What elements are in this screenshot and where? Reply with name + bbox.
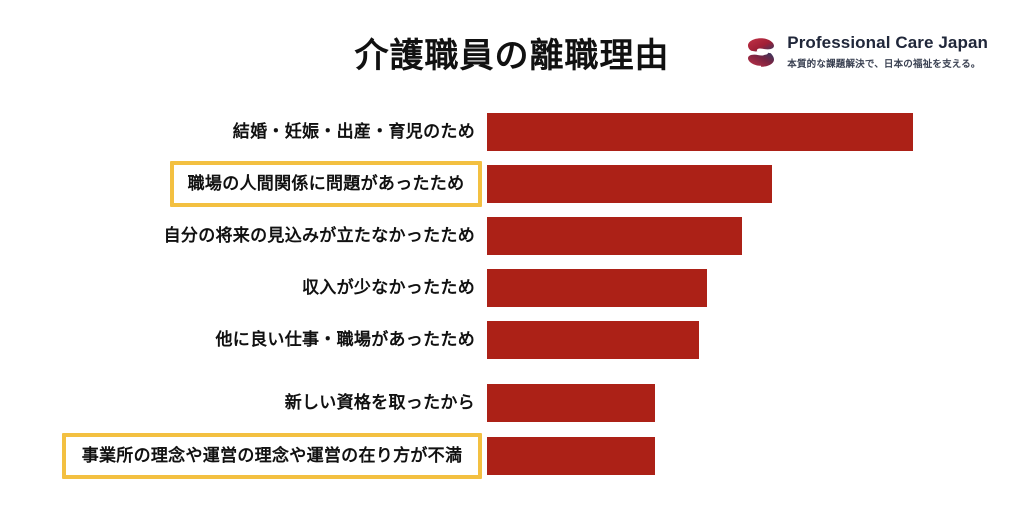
brand-name: Professional Care Japan — [787, 33, 988, 53]
chart-header: 介護職員の離職理由 — [0, 0, 1024, 96]
chart-row: 新しい資格を取ったから — [0, 384, 1024, 422]
bar — [487, 384, 655, 422]
category-label: 収入が少なかったため — [302, 269, 475, 307]
chart-row: 事業所の理念や運営の理念や運営の在り方が不満 — [0, 437, 1024, 475]
brand-logo: Professional Care Japan 本質的な課題解決で、日本の福祉を… — [744, 33, 988, 70]
category-label: 事業所の理念や運営の理念や運営の在り方が不満 — [66, 437, 478, 475]
category-label: 自分の将来の見込みが立たなかったため — [164, 217, 475, 255]
highlighted-category-box: 事業所の理念や運営の理念や運営の在り方が不満 — [62, 433, 482, 479]
bar — [487, 321, 699, 359]
bar — [487, 217, 742, 255]
chart-row: 自分の将来の見込みが立たなかったため — [0, 217, 1024, 255]
chart-row: 結婚・妊娠・出産・育児のため — [0, 113, 1024, 151]
category-label: 職場の人間関係に問題があったため — [174, 165, 478, 203]
chart-row: 職場の人間関係に問題があったため — [0, 165, 1024, 203]
highlighted-category-box: 職場の人間関係に問題があったため — [170, 161, 482, 207]
chart-row: 収入が少なかったため — [0, 269, 1024, 307]
category-label: 他に良い仕事・職場があったため — [216, 321, 476, 359]
professional-care-japan-logo-mark-icon — [744, 35, 778, 69]
category-label: 新しい資格を取ったから — [285, 384, 475, 422]
bar — [487, 165, 772, 203]
category-label: 結婚・妊娠・出産・育児のため — [233, 113, 475, 151]
brand-text: Professional Care Japan 本質的な課題解決で、日本の福祉を… — [787, 33, 988, 70]
bar-chart-plot-area: 結婚・妊娠・出産・育児のため 職場の人間関係に問題があったため 自分の将来の見込… — [0, 96, 1024, 531]
bar — [487, 113, 913, 151]
brand-tagline: 本質的な課題解決で、日本の福祉を支える。 — [787, 56, 988, 70]
chart-row: 他に良い仕事・職場があったため — [0, 321, 1024, 359]
bar — [487, 269, 707, 307]
bar — [487, 437, 655, 475]
